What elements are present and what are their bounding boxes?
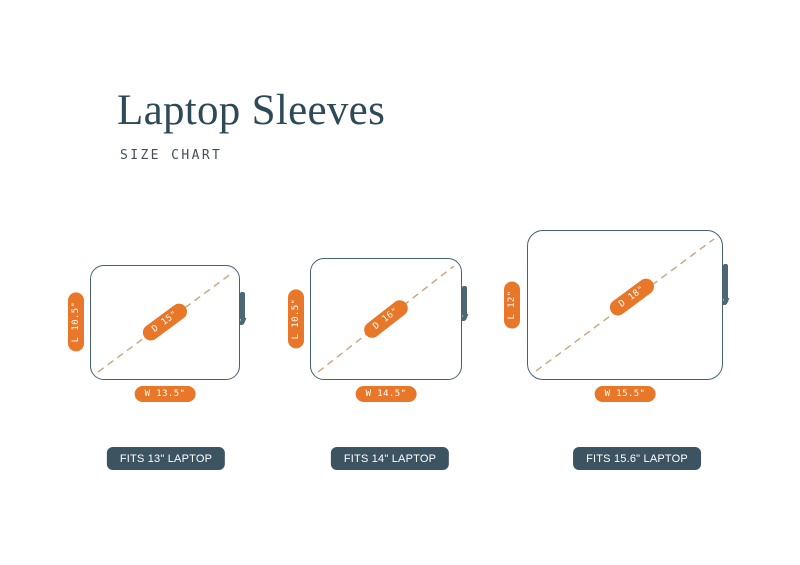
length-label: L 12" <box>504 281 520 328</box>
page-subtitle: SIZE CHART <box>120 148 385 163</box>
sleeve-diagram-15: L 12" D 18" W 15.5" <box>527 230 723 380</box>
width-label: W 15.5" <box>595 386 656 402</box>
length-label: L 10.5" <box>288 290 304 349</box>
caption-badge-14: FITS 14" LAPTOP <box>331 447 449 470</box>
heading-block: Laptop Sleeves SIZE CHART <box>117 88 385 163</box>
zipper-pull-icon <box>462 286 467 316</box>
zipper-pull-icon <box>240 292 245 320</box>
sleeve-diagram-14: L 10.5" D 16" W 14.5" <box>310 258 462 380</box>
caption-badge-15: FITS 15.6" LAPTOP <box>573 447 701 470</box>
page-title: Laptop Sleeves <box>117 88 385 134</box>
sleeve-diagram-13: L 10.5" D 15" W 13.5" <box>90 265 240 380</box>
caption-badge-13: FITS 13" LAPTOP <box>107 447 225 470</box>
width-label: W 13.5" <box>135 386 196 402</box>
length-label: L 10.5" <box>68 293 84 352</box>
zipper-pull-icon <box>723 264 728 300</box>
width-label: W 14.5" <box>356 386 417 402</box>
size-chart-canvas: Laptop Sleeves SIZE CHART L 10.5" D 15" … <box>0 0 800 565</box>
